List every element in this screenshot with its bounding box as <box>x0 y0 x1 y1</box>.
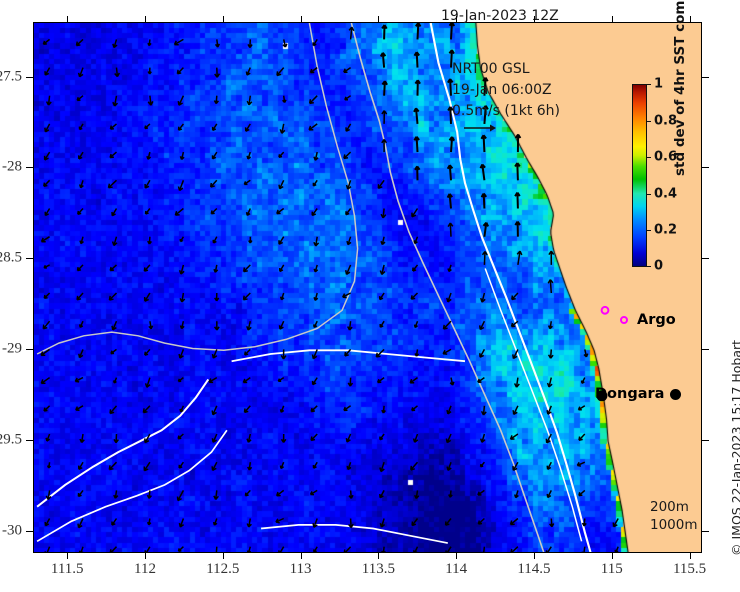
x-axis-tick-top <box>223 16 224 22</box>
current-vector-arrow <box>277 209 284 214</box>
current-vector-arrow <box>245 349 251 355</box>
current-vector-arrow <box>548 378 553 387</box>
contour-1000m-branch <box>37 23 358 354</box>
current-vector-arrow <box>347 237 351 245</box>
contour-label-1000m: 1000m <box>650 516 698 534</box>
x-axis-tick <box>67 553 68 559</box>
current-vector-arrow <box>212 406 217 415</box>
source-line-scale: 0.5m/s (1kt 6h) <box>452 101 560 122</box>
current-vector-arrow <box>113 237 117 246</box>
bathymetry-contour-legend: 200m 1000m <box>650 498 698 534</box>
current-vector-arrow <box>380 490 384 497</box>
current-vector-arrow <box>45 519 49 526</box>
current-vector-arrow <box>46 434 50 441</box>
current-vector-arrow <box>283 96 286 103</box>
current-vector-arrow <box>247 519 251 528</box>
y-axis-tick-label: -29.5 <box>0 432 22 449</box>
current-vector-arrow <box>111 349 117 353</box>
current-vector-arrow <box>515 490 519 497</box>
colorbar-tick <box>647 266 651 267</box>
current-vector-arrow <box>349 490 353 498</box>
current-vector-arrow <box>411 462 418 470</box>
current-vector-arrow <box>113 96 118 106</box>
current-vector-arrow <box>346 434 350 442</box>
current-vector-arrow <box>80 547 84 553</box>
current-vector-arrow <box>145 180 150 188</box>
current-vector-arrow <box>448 165 453 180</box>
current-vector-arrow <box>149 321 153 329</box>
current-vector-arrow <box>46 490 51 499</box>
current-vector-arrow <box>516 134 521 152</box>
current-vector-arrow <box>248 39 252 47</box>
x-axis-tick-label: 115.5 <box>673 561 706 578</box>
current-vector-arrow <box>78 490 83 496</box>
current-vector-arrow <box>382 111 387 124</box>
current-vector-arrow <box>248 547 251 553</box>
map-plot-area[interactable] <box>33 22 702 553</box>
current-vector-arrow <box>378 180 384 188</box>
current-vector-arrow <box>180 293 185 302</box>
current-vector-arrow <box>278 378 283 382</box>
current-vector-arrow <box>148 519 151 525</box>
current-vector-arrow <box>579 434 585 440</box>
current-vector-arrow <box>279 180 284 188</box>
y-axis-tick-label: -28.5 <box>0 250 22 267</box>
current-vector-arrow <box>412 519 417 526</box>
current-vector-arrow <box>283 39 287 47</box>
current-vector-arrow <box>114 434 118 443</box>
current-vector-arrow <box>276 519 284 523</box>
y-axis-tick-right <box>702 531 709 532</box>
current-vector-arrow <box>216 39 220 47</box>
y-axis-tick <box>26 440 33 441</box>
current-vector-arrow <box>146 378 151 388</box>
current-vector-arrow <box>584 349 588 357</box>
current-vector-arrow <box>209 378 217 383</box>
current-vector-arrow <box>144 265 150 271</box>
current-vector-arrow <box>214 519 217 526</box>
current-vector-arrow <box>511 434 518 439</box>
current-vector-arrow <box>175 209 183 216</box>
current-vector-arrow <box>79 349 83 357</box>
x-axis-tick <box>612 553 613 559</box>
source-annotation: NRT00 GSL 19-Jan 06:00Z 0.5m/s (1kt 6h) <box>452 59 560 122</box>
current-vector-arrow <box>344 547 350 553</box>
current-vector-arrow <box>147 152 151 159</box>
current-vector-arrow <box>582 378 585 384</box>
x-axis-tick-top <box>690 16 691 22</box>
current-vector-arrow <box>77 96 83 101</box>
current-vector-arrow <box>349 27 354 39</box>
current-vector-arrow <box>478 378 485 383</box>
current-vector-arrow <box>211 209 217 214</box>
current-vector-arrow <box>415 490 419 498</box>
current-vector-arrow <box>214 547 219 553</box>
current-vector-arrow <box>446 547 451 553</box>
x-axis-tick-top <box>456 16 457 22</box>
current-vector-arrow <box>215 293 219 301</box>
current-vector-arrow <box>314 321 317 327</box>
current-vector-arrow <box>447 293 451 302</box>
contour-200m-branch <box>485 269 581 542</box>
colorbar-tick <box>647 121 651 122</box>
x-axis-tick-label: 115 <box>601 561 623 578</box>
current-vector-arrow <box>381 209 386 218</box>
current-vector-arrow <box>279 547 284 553</box>
current-vector-arrow <box>180 406 183 412</box>
current-vector-arrow <box>178 490 184 500</box>
x-axis-tick-top <box>612 16 613 22</box>
current-vector-arrow <box>41 378 49 384</box>
source-line-time: 19-Jan 06:00Z <box>452 80 560 101</box>
current-vector-arrow <box>444 321 452 329</box>
current-vector-arrow <box>380 293 384 300</box>
current-vector-arrow <box>415 166 420 180</box>
current-vector-arrow <box>410 378 417 383</box>
current-vector-arrow <box>212 462 217 470</box>
current-vector-arrow <box>448 223 453 237</box>
current-vector-arrow <box>414 237 417 244</box>
current-vector-arrow <box>80 180 84 188</box>
current-vector-arrow <box>178 434 183 439</box>
current-vector-arrow <box>110 406 116 414</box>
current-vector-arrow <box>243 378 250 383</box>
colorbar-tick <box>647 194 651 195</box>
current-vector-arrow <box>547 490 551 497</box>
colorbar-tick-label: 1 <box>654 77 663 92</box>
current-vector-arrow <box>247 209 251 216</box>
x-axis-tick <box>456 553 457 559</box>
current-vector-arrow <box>78 209 83 215</box>
current-vector-arrow <box>246 68 250 76</box>
current-vector-arrow <box>346 209 351 215</box>
current-vector-arrow <box>145 124 150 129</box>
y-axis-tick-right <box>702 258 709 259</box>
x-axis-tick-top <box>301 16 302 22</box>
current-vector-arrow <box>179 124 184 130</box>
current-vector-arrow <box>313 180 317 186</box>
x-axis-tick <box>690 553 691 559</box>
current-vector-arrow <box>515 222 520 237</box>
current-vector-arrow <box>310 96 318 104</box>
current-vector-arrow <box>44 265 50 268</box>
current-vector-arrow <box>110 547 116 553</box>
current-vector-arrow <box>380 265 385 275</box>
current-vector-arrow <box>515 193 520 209</box>
reference-vector-arrow-icon <box>463 122 497 134</box>
current-vector-arrow <box>481 164 486 180</box>
current-vector-arrow <box>380 434 384 440</box>
current-vector-arrow <box>312 209 317 216</box>
y-axis-tick-label: -28 <box>2 159 22 176</box>
current-vector-arrow <box>314 265 318 272</box>
current-vector-arrow <box>47 96 52 106</box>
current-vector-arrow <box>415 349 418 356</box>
x-axis-tick-top <box>378 16 379 22</box>
current-vector-arrow <box>44 406 50 411</box>
y-axis-tick <box>26 258 33 259</box>
current-vector-arrow <box>78 265 84 271</box>
current-vector-arrow <box>313 519 317 528</box>
current-vector-arrow <box>215 68 220 78</box>
current-vector-arrow <box>179 547 184 552</box>
current-vector-arrow <box>282 434 286 443</box>
credit-text: © IMOS 22-Jan-2023 15:17 Hobart <box>729 340 740 556</box>
colorbar-tick <box>647 84 651 85</box>
current-vector-arrow <box>75 378 83 382</box>
current-vector-arrow <box>280 462 283 468</box>
current-vector-arrow <box>382 25 387 39</box>
x-axis-tick-label: 112.5 <box>206 561 239 578</box>
argo-legend-entry: Argo <box>620 312 676 328</box>
colorbar-tick-label: 0.4 <box>654 186 677 201</box>
current-vector-arrow <box>482 406 487 415</box>
current-vector-arrow <box>249 237 252 243</box>
current-vector-arrow <box>110 265 116 271</box>
current-vector-arrow <box>109 462 116 469</box>
current-vector-arrow <box>148 96 153 105</box>
current-vector-arrow <box>443 349 451 354</box>
current-vector-arrow <box>281 349 286 359</box>
current-vector-arrow <box>517 251 522 265</box>
current-vector-arrow <box>314 237 319 246</box>
current-vector-arrow <box>343 293 351 298</box>
current-vector-arrow <box>313 39 317 45</box>
current-vector-arrow <box>314 293 318 300</box>
current-vector-arrow <box>483 251 488 265</box>
current-vector-arrow <box>550 519 554 527</box>
current-vector-arrow <box>414 434 418 442</box>
y-axis-tick <box>26 531 33 532</box>
current-vector-arrow <box>246 124 251 131</box>
current-vector-arrow <box>447 406 451 414</box>
current-vector-arrow <box>615 547 618 553</box>
current-vector-arrow <box>412 406 418 411</box>
current-vector-arrow <box>381 53 386 68</box>
current-vector-arrow <box>450 137 455 152</box>
current-vector-arrow <box>247 152 251 159</box>
current-vector-arrow <box>547 547 552 553</box>
current-vector-arrow <box>215 321 220 330</box>
current-vector-arrow <box>214 490 219 499</box>
colorbar-title: std dev of 4hr SST comp <box>672 0 688 176</box>
current-vector-arrow <box>213 124 217 130</box>
current-vector-arrow <box>45 547 50 553</box>
y-axis-tick-right <box>702 167 709 168</box>
current-vector-arrow <box>311 68 318 73</box>
colorbar-gradient <box>632 84 647 267</box>
current-vector-arrow <box>548 280 553 293</box>
current-vector-arrow <box>178 96 183 106</box>
x-axis-tick <box>378 553 379 559</box>
station-legend-label: Dongara <box>595 386 664 402</box>
current-vector-arrow <box>512 293 518 300</box>
current-vector-arrow <box>481 135 486 152</box>
x-axis-tick <box>223 553 224 559</box>
x-axis-tick <box>534 553 535 559</box>
x-axis-tick-top <box>534 16 535 22</box>
current-vector-arrow <box>43 39 49 44</box>
current-vector-arrow <box>415 321 418 327</box>
current-vector-arrow <box>213 237 217 243</box>
current-vector-arrow <box>414 547 418 553</box>
x-axis-tick-top <box>67 16 68 22</box>
current-vector-arrow <box>148 68 151 74</box>
current-vector-arrow <box>179 349 183 358</box>
y-axis-tick-right <box>702 349 709 350</box>
current-vector-arrow <box>346 265 351 275</box>
figure-root: 19-Jan-2023 12Z NRT00 GSL 19-Jan 06:00Z … <box>0 0 740 592</box>
y-axis-tick-label: -30 <box>2 523 22 540</box>
y-axis-tick <box>26 77 33 78</box>
current-vector-arrow <box>582 547 586 553</box>
current-vector-arrow <box>311 406 317 412</box>
current-vector-arrow <box>482 194 487 209</box>
current-vector-arrow <box>214 265 218 272</box>
argo-float-marker-icon <box>620 316 628 324</box>
current-vector-arrow <box>146 209 150 215</box>
colorbar-tick-label: 0 <box>654 259 663 274</box>
current-vector-arrow <box>415 80 420 96</box>
current-vector-arrow <box>450 23 455 39</box>
current-vector-arrow <box>80 434 84 443</box>
current-vector-arrow <box>549 349 554 358</box>
x-axis-tick-label: 114 <box>445 561 467 578</box>
current-vector-arrow <box>44 293 49 298</box>
current-vector-arrow <box>113 39 117 47</box>
current-vector-arrow <box>42 237 50 242</box>
current-vector-arrow <box>45 124 50 132</box>
current-vector-arrow <box>481 462 485 467</box>
current-vector-arrow <box>413 265 418 271</box>
x-axis-tick-label: 113 <box>290 561 312 578</box>
colorbar: 1 0.8 0.6 0.4 0.2 0 <box>632 84 647 267</box>
current-vector-arrow <box>114 490 118 498</box>
current-vector-arrow <box>380 321 384 327</box>
current-vector-arrow <box>180 321 184 329</box>
current-vector-arrow <box>449 490 453 497</box>
current-vector-arrow <box>148 237 152 244</box>
contour-label-200m: 200m <box>650 498 698 516</box>
x-axis-tick-label: 113.5 <box>362 561 395 578</box>
current-vector-arrow <box>348 378 352 387</box>
current-vector-arrow <box>314 547 317 553</box>
x-axis-tick <box>301 553 302 559</box>
x-axis-tick <box>145 553 146 559</box>
y-axis-tick-right <box>702 77 709 78</box>
current-vector-arrow <box>77 293 83 300</box>
current-vector-arrow <box>382 81 387 96</box>
current-vector-arrow <box>148 39 151 45</box>
current-vector-arrow <box>76 406 83 411</box>
current-vector-arrow <box>45 68 50 76</box>
current-vector-arrow <box>180 152 184 159</box>
current-vector-arrow <box>248 462 252 470</box>
current-vector-arrow <box>109 180 117 188</box>
current-vector-arrow <box>80 237 84 244</box>
current-vector-arrow <box>144 462 150 471</box>
current-vector-arrow <box>579 406 585 410</box>
current-vector-arrow <box>44 180 50 186</box>
current-vector-arrow <box>411 293 417 299</box>
current-vector-arrow <box>314 152 318 160</box>
current-vector-arrow <box>613 519 618 527</box>
current-vector-arrow <box>280 321 284 329</box>
y-axis-tick <box>26 167 33 168</box>
current-vector-arrow <box>43 321 49 329</box>
current-vector-arrow <box>277 68 284 76</box>
current-vector-arrow <box>382 547 386 553</box>
current-vector-arrow <box>243 293 250 300</box>
current-vector-arrow <box>344 68 351 73</box>
current-vector-arrow <box>313 462 317 468</box>
current-vector-arrow <box>143 406 150 413</box>
current-vector-arrow <box>178 378 183 382</box>
current-vector-arrow <box>450 378 454 386</box>
current-vector-arrow <box>79 462 83 469</box>
current-vector-arrow <box>515 163 520 180</box>
current-vector-arrow <box>177 68 183 74</box>
current-vector-arrow <box>175 39 184 44</box>
current-vector-arrow <box>579 490 585 495</box>
current-vector-arrow <box>549 321 553 329</box>
station-marker-icon <box>670 389 681 400</box>
x-axis-tick-top <box>145 16 146 22</box>
current-vector-arrow <box>280 265 284 272</box>
current-vector-arrow <box>513 406 518 415</box>
current-vector-arrow <box>380 519 384 528</box>
current-vector-arrow <box>48 462 51 468</box>
current-vector-arrow <box>45 209 49 216</box>
x-axis-tick-label: 114.5 <box>517 561 550 578</box>
argo-legend-label: Argo <box>637 312 676 328</box>
current-vector-arrow <box>112 321 117 330</box>
current-vector-arrow <box>480 349 485 357</box>
current-vector-arrow <box>212 434 216 442</box>
current-vector-arrow <box>145 349 150 355</box>
x-axis-tick-label: 112 <box>134 561 156 578</box>
current-vector-arrow <box>446 519 451 526</box>
source-line-model: NRT00 GSL <box>452 59 560 80</box>
current-vector-arrow <box>79 124 83 130</box>
current-vector-arrow <box>279 237 284 245</box>
current-vector-arrow <box>447 462 451 470</box>
current-vector-arrow <box>482 547 486 553</box>
current-vector-arrow <box>109 293 116 300</box>
current-vector-arrow <box>484 223 489 237</box>
current-vector-arrow <box>244 265 251 272</box>
current-vector-arrow <box>45 152 50 160</box>
current-vector-arrow <box>448 265 451 272</box>
current-vector-arrow <box>79 68 83 77</box>
current-vector-arrow <box>344 406 351 411</box>
current-vector-arrow <box>110 152 116 158</box>
current-vector-arrow <box>348 321 352 330</box>
current-vector-arrow <box>481 293 486 302</box>
current-vector-arrow <box>79 152 83 159</box>
y-axis-tick-label: -27.5 <box>0 68 22 85</box>
current-vector-arrow <box>115 68 120 77</box>
current-vector-arrow <box>145 293 150 301</box>
timestamp-stamp: 19-Jan-2023 12Z <box>441 8 559 24</box>
current-vector-arrow <box>245 406 251 413</box>
current-vector-arrow <box>380 462 384 471</box>
current-vector-arrow <box>211 180 217 187</box>
current-vector-arrow <box>76 39 83 45</box>
current-vector-arrow <box>179 462 183 468</box>
colorbar-tick-label: 0.2 <box>654 223 677 238</box>
map-overlay <box>34 23 702 553</box>
